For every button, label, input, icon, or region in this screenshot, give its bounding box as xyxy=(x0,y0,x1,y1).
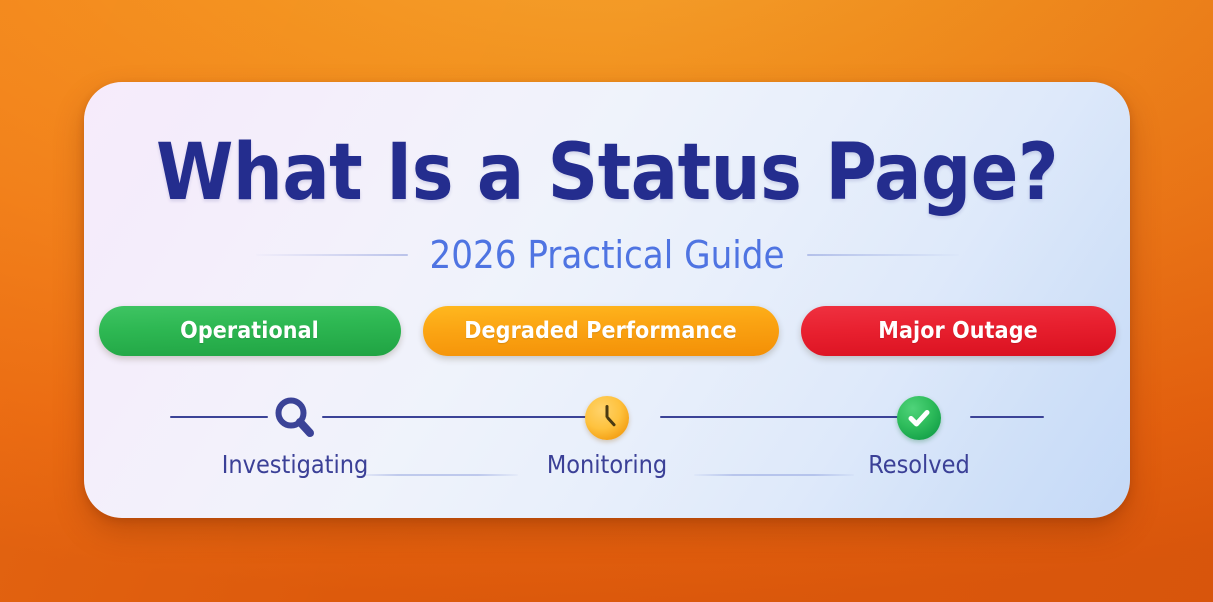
incident-timeline: Investigating Monitoring xyxy=(170,392,1044,502)
clock-icon xyxy=(581,392,633,444)
status-badge-group: Operational Degraded Performance Major O… xyxy=(84,306,1130,356)
check-circle-icon xyxy=(893,392,945,444)
status-badge-operational[interactable]: Operational xyxy=(99,306,401,356)
subtitle-rule-left xyxy=(256,254,408,256)
status-page-card: What Is a Status Page? 2026 Practical Gu… xyxy=(84,82,1130,518)
subtitle-rule-right xyxy=(807,254,959,256)
timeline-step-label-investigating: Investigating xyxy=(222,450,368,480)
timeline-step-label-monitoring: Monitoring xyxy=(547,450,667,480)
status-badge-degraded-performance[interactable]: Degraded Performance xyxy=(423,306,779,356)
magnifier-icon xyxy=(269,392,321,444)
timeline-step-investigating[interactable]: Investigating xyxy=(170,392,420,480)
status-badge-major-outage[interactable]: Major Outage xyxy=(801,306,1116,356)
poster-canvas: What Is a Status Page? 2026 Practical Gu… xyxy=(0,0,1213,602)
timeline-step-monitoring[interactable]: Monitoring xyxy=(482,392,732,480)
subtitle-row: 2026 Practical Guide xyxy=(84,232,1130,278)
timeline-step-label-resolved: Resolved xyxy=(868,450,970,480)
timeline-step-resolved[interactable]: Resolved xyxy=(794,392,1044,480)
timeline-nodes: Investigating Monitoring xyxy=(170,392,1044,480)
page-title: What Is a Status Page? xyxy=(84,130,1130,216)
page-subtitle: 2026 Practical Guide xyxy=(430,233,785,277)
